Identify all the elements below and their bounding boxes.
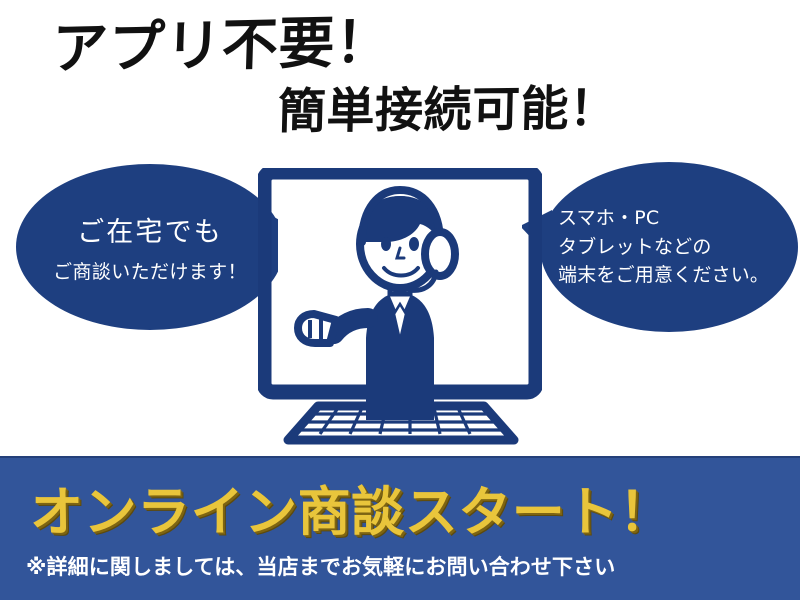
speech-bubble-right: スマホ・PC タブレットなどの 端末をご用意ください。 bbox=[540, 162, 798, 332]
waving-hand bbox=[298, 314, 336, 343]
headline-secondary: 簡単接続可能！ bbox=[277, 84, 618, 136]
headline-primary: アプリ不要！ bbox=[51, 15, 392, 78]
online-meeting-promo-poster: アプリ不要！ 簡単接続可能！ ご在宅でも ご商談いただけます！ スマホ・PC タ… bbox=[0, 0, 800, 600]
speech-bubble-left-line2: ご商談いただけます！ bbox=[53, 257, 247, 284]
speech-bubble-right-line1: スマホ・PC bbox=[558, 204, 659, 233]
speech-bubble-right-line2: タブレットなどの bbox=[558, 233, 712, 262]
banner-headline: オンライン商談スタート！ bbox=[30, 470, 672, 546]
banner-subtext: ※詳細に関しましては、当店までお気軽にお問い合わせ下さい bbox=[26, 551, 615, 581]
online-meeting-monitor-icon bbox=[258, 168, 542, 448]
speech-bubble-left: ご在宅でも ご商談いただけます！ bbox=[16, 164, 284, 330]
bottom-cta-banner: オンライン商談スタート！ ※詳細に関しましては、当店までお気軽にお問い合わせ下さ… bbox=[0, 456, 800, 600]
speech-bubble-right-line3: 端末をご用意ください。 bbox=[558, 261, 769, 290]
speech-bubble-left-line1: ご在宅でも bbox=[77, 210, 223, 249]
